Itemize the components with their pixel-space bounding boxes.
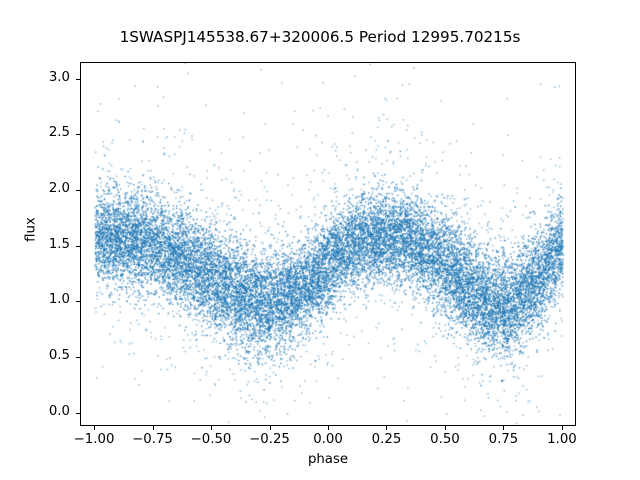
- y-tick-mark: [76, 134, 80, 135]
- plot-axes-area: [80, 62, 576, 426]
- y-tick-mark: [76, 79, 80, 80]
- y-tick-label: 3.0: [0, 70, 70, 85]
- y-axis-label: flux: [24, 180, 39, 280]
- x-tick-mark: [503, 426, 504, 430]
- x-tick-mark: [562, 426, 563, 430]
- y-tick-mark: [76, 190, 80, 191]
- y-tick-mark: [76, 413, 80, 414]
- x-axis-label: phase: [80, 452, 576, 467]
- x-tick-mark: [386, 426, 387, 430]
- x-tick-label: 1.00: [527, 432, 597, 447]
- chart-title: 1SWASPJ145538.67+320006.5 Period 12995.7…: [0, 28, 640, 46]
- y-tick-label: 2.5: [0, 125, 70, 140]
- x-tick-mark: [328, 426, 329, 430]
- y-tick-label: 1.0: [0, 292, 70, 307]
- y-tick-mark: [76, 357, 80, 358]
- x-tick-mark: [94, 426, 95, 430]
- y-tick-mark: [76, 246, 80, 247]
- x-tick-mark: [270, 426, 271, 430]
- scatter-plot-canvas: [81, 63, 576, 426]
- y-tick-label: 0.0: [0, 404, 70, 419]
- x-tick-mark: [211, 426, 212, 430]
- y-tick-label: 0.5: [0, 348, 70, 363]
- matplotlib-figure: 1SWASPJ145538.67+320006.5 Period 12995.7…: [0, 0, 640, 480]
- y-tick-mark: [76, 301, 80, 302]
- x-tick-mark: [153, 426, 154, 430]
- x-tick-mark: [445, 426, 446, 430]
